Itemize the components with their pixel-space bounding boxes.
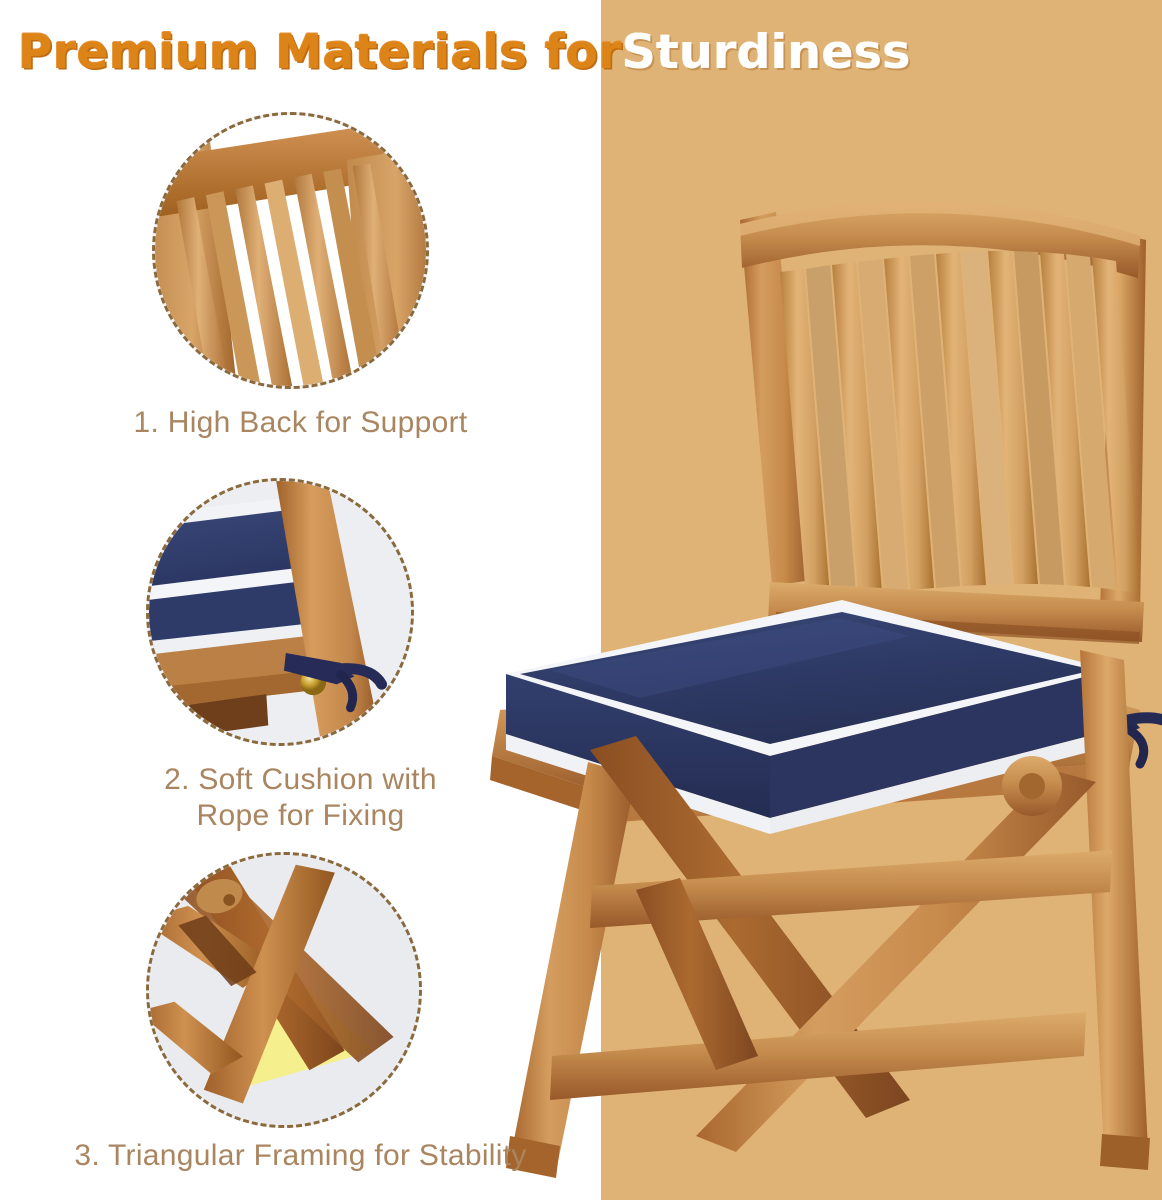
feature-3-caption: 3. Triangular Framing for Stability [0, 1138, 601, 1174]
product-chair-photo [440, 150, 1162, 1200]
feature-2-detail-circle [146, 478, 414, 746]
feature-2-caption-line1: 2. Soft Cushion with [0, 762, 601, 798]
page-title-white-part: Sturdiness [622, 22, 911, 84]
feature-2-caption: 2. Soft Cushion with Rope for Fixing [0, 762, 601, 834]
feature-3-detail-image [149, 855, 419, 1125]
feature-2-detail-image [149, 481, 411, 743]
feature-1-detail-image [155, 115, 426, 386]
feature-2-caption-line2: Rope for Fixing [0, 798, 601, 834]
backrest-slats [780, 251, 1140, 598]
feature-3-detail-circle [146, 852, 422, 1128]
page-title-orange-part: Premium Materials for [18, 22, 622, 84]
chair-backrest [740, 202, 1146, 644]
page-title: Premium Materials for Sturdiness [0, 22, 1162, 84]
feature-1-caption: 1. High Back for Support [0, 405, 601, 441]
product-feature-image: Premium Materials for Sturdiness [0, 0, 1162, 1200]
feature-1-detail-circle [152, 112, 429, 389]
